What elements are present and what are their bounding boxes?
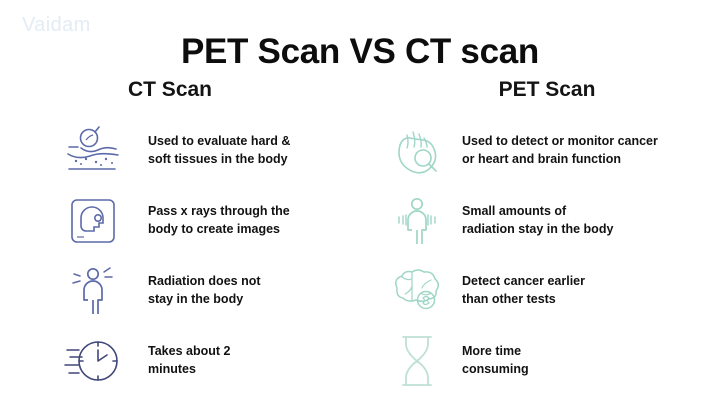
list-item-line2: radiation stay in the body: [462, 221, 613, 239]
list-item-text: Small amounts of radiation stay in the b…: [448, 203, 613, 239]
skin-tissue-magnifier-icon: [62, 122, 124, 180]
list-item-line1: Pass x rays through the: [148, 203, 290, 221]
list-item-text: Radiation does not stay in the body: [124, 273, 261, 309]
list-item-line2: minutes: [148, 361, 230, 379]
list-item-line1: More time: [462, 343, 529, 361]
list-item: Used to evaluate hard & soft tissues in …: [0, 116, 360, 186]
column-heading-pet: PET Scan: [360, 78, 720, 102]
list-item: Small amounts of radiation stay in the b…: [360, 186, 720, 256]
list-item-text: Used to evaluate hard & soft tissues in …: [124, 133, 290, 169]
list-item-line2: body to create images: [148, 221, 290, 239]
list-item: Pass x rays through the body to create i…: [0, 186, 360, 256]
list-item-text: More time consuming: [448, 343, 529, 379]
column-heading-ct: CT Scan: [0, 78, 360, 102]
list-item-line1: Radiation does not: [148, 273, 261, 291]
list-item-line2: or heart and brain function: [462, 151, 658, 169]
list-item-text: Detect cancer earlier than other tests: [448, 273, 585, 309]
list-item-text: Used to detect or monitor cancer or hear…: [448, 133, 658, 169]
pet-item-list: Used to detect or monitor cancer or hear…: [360, 116, 720, 396]
list-item-line1: Used to evaluate hard &: [148, 133, 290, 151]
list-item-line2: stay in the body: [148, 291, 261, 309]
list-item-line1: Takes about 2: [148, 343, 230, 361]
list-item: Detect cancer earlier than other tests: [360, 256, 720, 326]
person-radiation-icon: [62, 262, 124, 320]
list-item-line1: Detect cancer earlier: [462, 273, 585, 291]
brain-magnifier-icon: [386, 262, 448, 320]
hourglass-icon: [386, 332, 448, 390]
list-item: More time consuming: [360, 326, 720, 396]
page-title: PET Scan VS CT scan: [0, 32, 720, 72]
list-item: Takes about 2 minutes: [0, 326, 360, 396]
column-pet-scan: PET Scan Used to detect or monitor cance…: [360, 78, 720, 396]
ct-item-list: Used to evaluate hard & soft tissues in …: [0, 116, 360, 396]
person-radiation-icon: [386, 192, 448, 250]
heart-magnifier-icon: [386, 122, 448, 180]
list-item-line2: soft tissues in the body: [148, 151, 290, 169]
xray-skull-film-icon: [62, 192, 124, 250]
column-ct-scan: CT Scan: [0, 78, 360, 396]
list-item-text: Takes about 2 minutes: [124, 343, 230, 379]
list-item: Used to detect or monitor cancer or hear…: [360, 116, 720, 186]
list-item-text: Pass x rays through the body to create i…: [124, 203, 290, 239]
list-item-line2: than other tests: [462, 291, 585, 309]
list-item-line1: Small amounts of: [462, 203, 613, 221]
clock-speed-icon: [62, 332, 124, 390]
list-item: Radiation does not stay in the body: [0, 256, 360, 326]
list-item-line2: consuming: [462, 361, 529, 379]
comparison-columns: CT Scan: [0, 78, 720, 396]
list-item-line1: Used to detect or monitor cancer: [462, 133, 658, 151]
